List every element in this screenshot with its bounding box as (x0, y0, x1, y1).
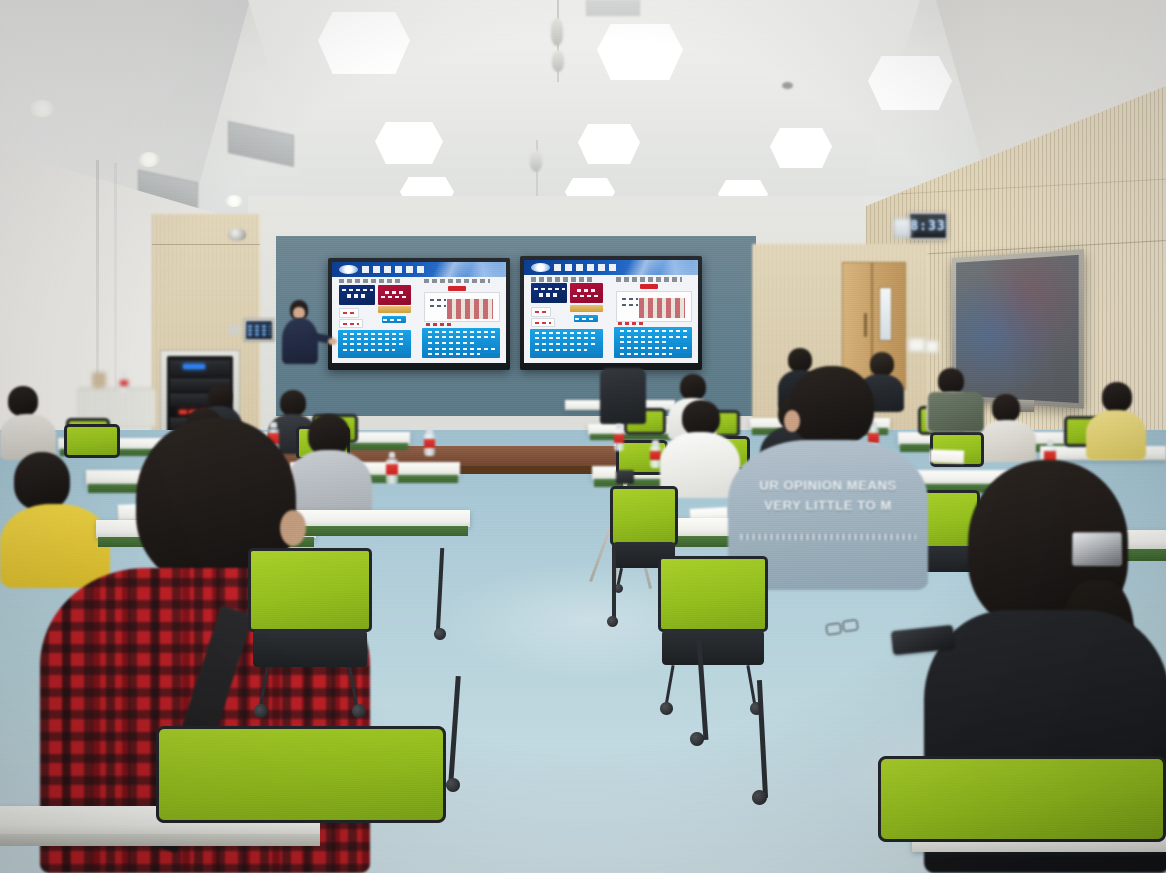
water-bottle (614, 424, 624, 451)
slide-text-line (343, 338, 406, 340)
bottle-cap (652, 440, 658, 446)
ceiling-panel-light (578, 124, 640, 164)
chair-leg (746, 665, 756, 707)
slide-text-line (430, 305, 446, 307)
slide-column-title (339, 279, 402, 283)
av-control-ui-row (248, 329, 270, 332)
slide-text-line (534, 288, 565, 290)
attendee-head (992, 394, 1020, 422)
ceiling-air-vent (586, 0, 640, 16)
attendee-ear (784, 410, 800, 432)
bottle-cap (616, 424, 622, 429)
attendee-head (208, 384, 232, 408)
chair-caster (660, 702, 673, 715)
slide-text-line (535, 343, 598, 345)
slide-text-line (428, 348, 495, 350)
slide-text-line (385, 291, 404, 294)
dome-camera-icon (228, 228, 246, 241)
slide-text-line (535, 337, 598, 339)
ceiling-panel-light (868, 56, 952, 110)
bottle-label (386, 464, 398, 475)
ceiling-downlight (225, 195, 243, 207)
desk-leg (612, 544, 616, 620)
slide-text-line (428, 342, 477, 344)
chair-back (156, 726, 446, 823)
bottle-cap (389, 452, 396, 458)
ceiling-hanging-sensor (552, 50, 564, 72)
av-control-ui-row (248, 333, 270, 336)
slide-text-line (343, 349, 395, 351)
slide-header-title (554, 264, 617, 271)
av-control-screen (246, 321, 272, 339)
bottle-label (120, 380, 128, 386)
clock-reading: 8:33 (913, 217, 943, 235)
ceiling-air-vent (228, 121, 294, 167)
light-switch-plate[interactable] (908, 338, 926, 352)
attendee-head (1102, 382, 1132, 412)
digital-wall-clock: 8:33 (908, 212, 948, 240)
rack-blue-led-display (183, 364, 205, 369)
desk-caster (434, 628, 446, 640)
left-presentation-screen[interactable] (328, 258, 510, 370)
desk-caster (446, 778, 460, 792)
ceiling-panel-light (318, 12, 410, 74)
desk-caster (607, 616, 618, 627)
wall-seam (152, 244, 260, 245)
water-bottle (386, 452, 398, 484)
jacket-print-line-1: UR OPINION MEANS (728, 478, 928, 493)
attendee-head (790, 366, 874, 446)
university-emblem-icon (339, 265, 358, 274)
slide-header-banner (524, 260, 698, 275)
av-control-touch-panel[interactable] (243, 318, 275, 342)
slide-text-line (343, 312, 357, 314)
slide-text-line (428, 331, 495, 333)
slide-text-line (342, 289, 373, 291)
slide-text-line (347, 294, 367, 298)
chair (156, 726, 446, 873)
slide-column-title (616, 277, 682, 281)
slide-text-line (381, 296, 409, 298)
slide-block-gold (378, 306, 410, 313)
slide-callout-cyan (422, 328, 500, 358)
slide-header-banner (332, 262, 506, 277)
slide-block-red-tag (640, 284, 659, 289)
chair-back (610, 486, 678, 546)
bottle-cap (1047, 440, 1054, 446)
tripod-head (616, 470, 634, 484)
slide-column-title (531, 277, 594, 281)
slide-callout-cyan (614, 327, 692, 357)
slide-text-line (622, 298, 638, 300)
chair-caster (254, 704, 268, 718)
slide-text-line (428, 353, 480, 355)
slide-column-right (419, 278, 503, 361)
attendee-head (680, 374, 706, 400)
presenter-hand (328, 338, 337, 345)
door-handle[interactable] (864, 313, 867, 337)
slide-text-line (618, 322, 643, 325)
slide-block-white (531, 318, 554, 328)
university-emblem-icon (531, 263, 550, 273)
slide-block-white (339, 319, 362, 328)
slide-text-line (430, 299, 446, 301)
bottle-label (614, 434, 624, 443)
desk-caster (752, 790, 767, 805)
slide-callout-cyan (530, 329, 603, 358)
radiator-top-items (92, 372, 106, 388)
presenter-torso (282, 318, 318, 364)
slide-text-line (343, 333, 406, 335)
hair-clip (1072, 532, 1122, 566)
slide-block-white (339, 308, 359, 318)
slide-text-line (620, 347, 687, 349)
slide-text-line (535, 322, 552, 324)
ceiling-speaker (782, 82, 793, 89)
slide-body (335, 278, 504, 361)
chair (878, 756, 1166, 873)
slide-text-line (343, 323, 360, 325)
door-window (879, 287, 892, 341)
slide-text-line (535, 332, 598, 334)
slide-photo-panel (616, 291, 692, 322)
chair-back (248, 548, 372, 632)
slide-column-title (424, 279, 490, 283)
chair-seat (662, 630, 763, 665)
attendee-torso (978, 420, 1036, 462)
slide-text-line (620, 336, 687, 338)
light-switch-plate[interactable] (925, 340, 939, 353)
slide-column-left (527, 276, 608, 360)
slide-block-navy (531, 283, 567, 303)
slide-text-line (620, 330, 687, 332)
executive-chair (600, 368, 646, 424)
slide-column-right (611, 276, 695, 360)
slide-block-white (531, 307, 551, 317)
attendee (978, 394, 1036, 458)
bottle-label (424, 439, 435, 449)
slide-block-crimson (570, 283, 602, 303)
ceiling-hanging-sensor (551, 18, 563, 46)
ceiling-panel-light (770, 128, 832, 168)
ceiling-panel-light (375, 122, 443, 164)
ceiling-hanging-sensor (530, 150, 542, 172)
presenter (276, 300, 328, 384)
slide-left (332, 262, 506, 363)
slide-text-line (573, 295, 601, 297)
slide-photo-grid (447, 299, 493, 319)
slide-callout-cyan (338, 330, 411, 358)
jacket-print-line-2: VERY LITTLE TO M (728, 498, 928, 513)
bottle-cap (122, 373, 127, 377)
slide-text-line (535, 311, 549, 313)
attendee-head (280, 390, 306, 416)
chair-caster (352, 704, 366, 718)
slide-text-line (535, 349, 587, 351)
attendee-torso (1086, 410, 1146, 460)
backpack (928, 392, 984, 432)
attendee-head (8, 386, 38, 416)
attendee (1086, 382, 1146, 458)
slide-block-cyan-small (382, 316, 406, 323)
right-presentation-screen[interactable] (520, 256, 702, 370)
slide-text-line (426, 323, 451, 326)
slide-photo-panel (424, 292, 500, 322)
slide-block-crimson (378, 285, 410, 305)
desk-caster (690, 732, 704, 746)
slide-column-left (335, 278, 416, 361)
chair-leg (664, 665, 674, 707)
water-bottle (424, 428, 435, 456)
chair-back (878, 756, 1166, 842)
slide-text-line (343, 343, 406, 345)
attendee-head (938, 368, 964, 394)
slide-text-line (383, 319, 404, 321)
ceiling-downlight (29, 100, 55, 117)
slide-header-title (362, 266, 425, 273)
chair (658, 556, 768, 716)
bottle-cap (426, 428, 432, 434)
slide-text-line (428, 336, 495, 338)
slide-text-line (539, 293, 559, 297)
chair (248, 548, 372, 718)
slide-block-gold (570, 305, 602, 312)
wall-sign (893, 218, 911, 238)
slide-block-cyan-small (574, 315, 598, 322)
jacket-hem (740, 534, 916, 540)
ceiling-panel-light (597, 24, 683, 80)
slide-block-navy (339, 285, 375, 305)
attendee-head (682, 400, 720, 436)
ceiling-downlight (138, 152, 160, 167)
glasses-lens (825, 622, 841, 635)
slide-text-line (620, 353, 672, 355)
slide-text-line (575, 318, 596, 320)
water-bottle (120, 373, 128, 391)
av-control-ui-row (248, 325, 270, 328)
chair-back (658, 556, 768, 632)
slide-right (524, 260, 698, 363)
glasses-lens (842, 619, 858, 632)
classroom-scene: 8:33 (0, 0, 1166, 873)
slide-photo-grid (639, 298, 685, 318)
slide-text-line (577, 289, 596, 292)
slide-text-line (622, 304, 638, 306)
slide-body (527, 276, 696, 360)
wall-bracket (228, 325, 240, 335)
chair-seat (253, 630, 367, 667)
slide-text-line (620, 341, 669, 343)
attendee-ear (280, 510, 306, 546)
slide-block-red-tag (448, 286, 467, 291)
